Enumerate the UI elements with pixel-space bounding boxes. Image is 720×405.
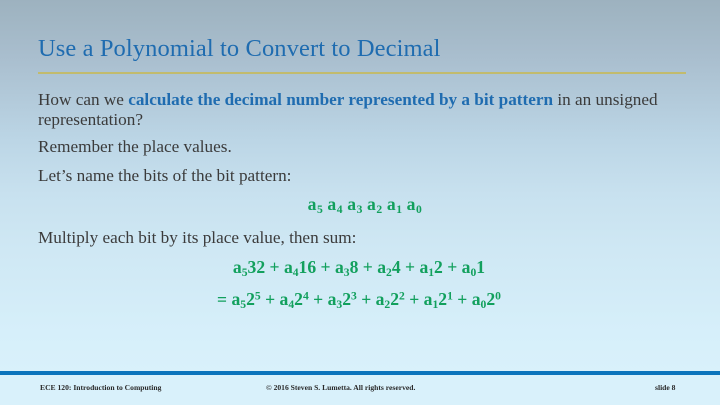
pow-term-5: a121 xyxy=(424,289,453,309)
footer-copyright: © 2016 Steven S. Lumetta. All rights res… xyxy=(266,383,415,392)
pow-term-4-exponent: 2 xyxy=(399,290,405,303)
equals-sign: = xyxy=(217,289,227,309)
pow-term-6: a020 xyxy=(472,289,501,309)
bit-a1: a1 xyxy=(387,194,403,214)
sum-term-5: a12 xyxy=(419,257,442,277)
bit-a3-subscript: 3 xyxy=(357,203,363,216)
pow-term-2: a424 xyxy=(280,289,309,309)
bit-a4-subscript: 4 xyxy=(337,203,343,216)
pow-term-1-subscript: 5 xyxy=(240,298,246,311)
pow-term-2-subscript: 4 xyxy=(288,298,294,311)
sum-term-2: a416 xyxy=(284,257,316,277)
bit-a2-subscript: 2 xyxy=(376,203,382,216)
pow-term-3-exponent: 3 xyxy=(351,290,357,303)
sum-term-3-subscript: 3 xyxy=(344,266,350,279)
footer-course-name: ECE 120: Introduction to Computing xyxy=(40,383,161,392)
pow-term-4: a222 xyxy=(376,289,405,309)
bit-a3: a3 xyxy=(347,194,363,214)
sum-term-5-subscript: 1 xyxy=(428,266,434,279)
bit-a1-subscript: 1 xyxy=(396,203,402,216)
slide-canvas: Use a Polynomial to Convert to Decimal H… xyxy=(0,0,720,405)
slide-body: How can we calculate the decimal number … xyxy=(38,90,674,315)
pow-term-2-exponent: 4 xyxy=(303,290,309,303)
bit-a0: a0 xyxy=(407,194,423,214)
sum-term-6: a01 xyxy=(462,257,485,277)
footer-slide-number: slide 8 xyxy=(655,383,675,392)
slide-footer: ECE 120: Introduction to Computing © 201… xyxy=(0,383,720,397)
pow-term-6-exponent: 0 xyxy=(495,290,501,303)
pow-term-6-subscript: 0 xyxy=(481,298,487,311)
pow-term-4-subscript: 2 xyxy=(384,298,390,311)
bit-a4: a4 xyxy=(327,194,343,214)
sum-term-4-subscript: 2 xyxy=(386,266,392,279)
footer-divider-bar xyxy=(0,371,720,375)
equation-place-value-sum: a532 + a416 + a38 + a24 + a12 + a01 xyxy=(38,257,674,283)
pow-term-1-exponent: 5 xyxy=(255,290,261,303)
pow-term-1: a525 xyxy=(231,289,260,309)
sum-term-3: a38 xyxy=(335,257,358,277)
sum-term-1-subscript: 5 xyxy=(242,266,248,279)
equation-power-of-two-sum: = a525 + a424 + a323 + a222 + a121 + a02… xyxy=(38,286,674,315)
page-title: Use a Polynomial to Convert to Decimal xyxy=(38,34,441,64)
bit-a0-subscript: 0 xyxy=(416,203,422,216)
body-paragraph-multiply: Multiply each bit by its place value, th… xyxy=(38,228,674,248)
bit-a5: a5 xyxy=(308,194,324,214)
bit-a5-subscript: 5 xyxy=(317,203,323,216)
pow-term-5-subscript: 1 xyxy=(432,298,438,311)
bit-a2: a2 xyxy=(367,194,383,214)
pow-term-5-exponent: 1 xyxy=(447,290,453,303)
sum-term-1: a532 xyxy=(233,257,265,277)
body-paragraph-question: How can we calculate the decimal number … xyxy=(38,90,674,129)
question-text-lead: How can we xyxy=(38,90,128,109)
sum-term-6-subscript: 0 xyxy=(470,266,476,279)
sum-term-4: a24 xyxy=(377,257,400,277)
equation-bit-names: a5a4a3a2a1a0 xyxy=(38,194,674,220)
sum-term-2-subscript: 4 xyxy=(293,266,299,279)
body-paragraph-name-bits: Let’s name the bits of the bit pattern: xyxy=(38,166,674,186)
title-underline-rule xyxy=(38,72,686,74)
pow-term-3: a323 xyxy=(328,289,357,309)
pow-term-3-subscript: 3 xyxy=(336,298,342,311)
question-highlight-phrase: calculate the decimal number represented… xyxy=(128,90,553,109)
body-paragraph-remember: Remember the place values. xyxy=(38,137,674,157)
